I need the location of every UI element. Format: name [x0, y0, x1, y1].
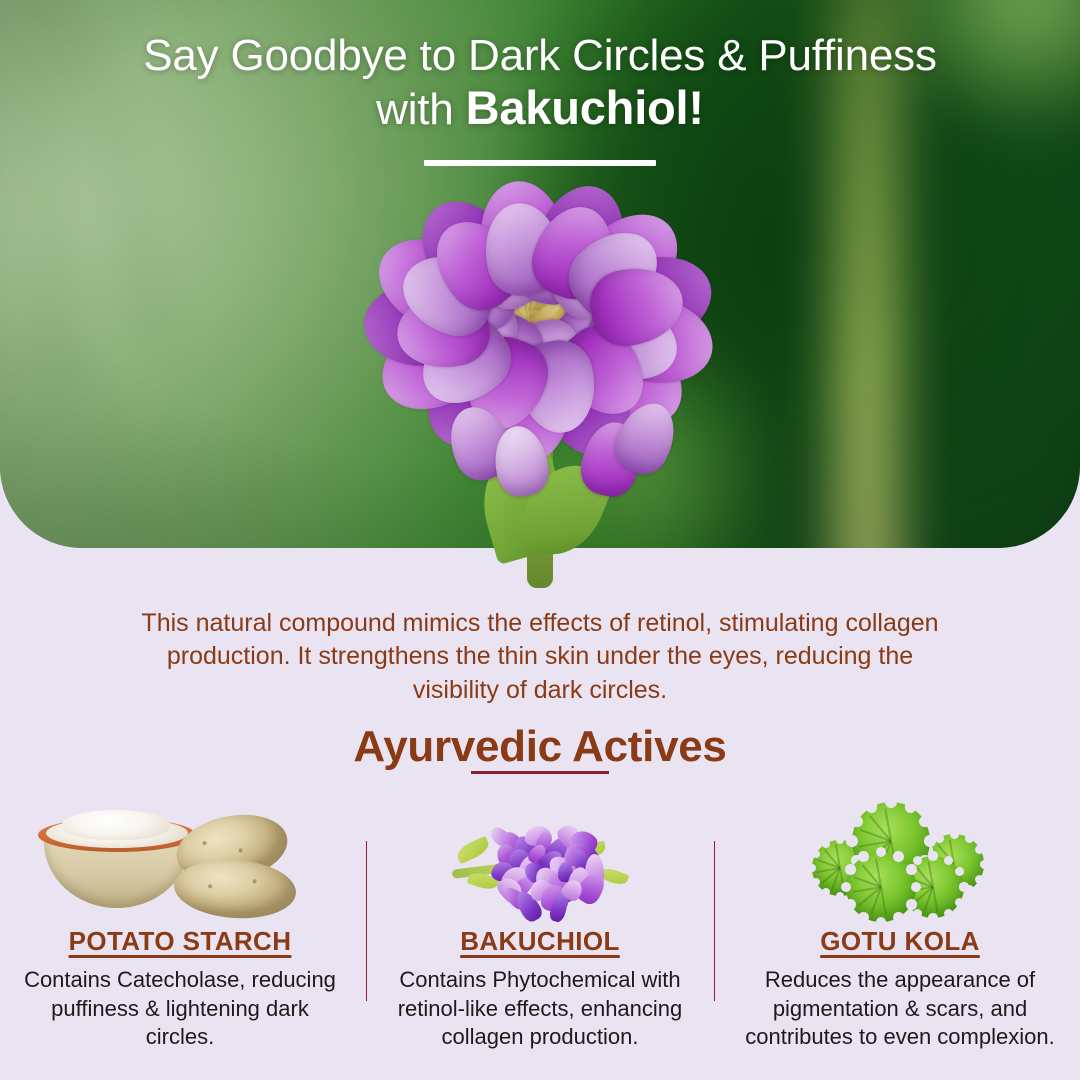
- leaf-notch: [950, 830, 959, 839]
- headline-line-2: with Bakuchiol!: [0, 83, 1080, 133]
- gotu-kola-leaf-cluster: [806, 800, 994, 918]
- leaf-notch: [965, 834, 974, 843]
- gotu-kola-image: [736, 796, 1064, 920]
- potato: [172, 856, 298, 922]
- leaf-notch: [822, 888, 830, 896]
- leaf-notch: [858, 851, 869, 862]
- potato-starch-image: [16, 796, 344, 920]
- headline-line-1: Say Goodbye to Dark Circles & Puffiness: [0, 32, 1080, 79]
- leaf-vein: [880, 887, 887, 916]
- headline-accent-word: Bakuchiol!: [466, 81, 704, 134]
- leaf-notch: [913, 856, 922, 865]
- leaf-notch: [846, 835, 858, 847]
- ingredient-description: Reduces the appearance of pigmentation &…: [736, 966, 1064, 1052]
- leaf-notch: [858, 912, 869, 923]
- infographic-page: Say Goodbye to Dark Circles & Puffiness …: [0, 0, 1080, 1080]
- leaf-notch: [851, 816, 863, 828]
- leaf-vein: [932, 887, 938, 913]
- leaf-notch: [906, 864, 917, 875]
- section-title: Ayurvedic Actives: [0, 722, 1080, 772]
- leaf-notch: [893, 851, 904, 862]
- leaf-notch: [975, 845, 984, 854]
- leaf-notch: [836, 836, 844, 844]
- leaf-notch: [924, 835, 936, 847]
- leaf-notch: [928, 851, 937, 860]
- ingredient-card-potato-starch: POTATO STARCH Contains Catecholase, redu…: [0, 796, 360, 1080]
- leaf-notch: [919, 816, 931, 828]
- intro-paragraph: This natural compound mimics the effects…: [130, 607, 950, 707]
- starch-mound: [62, 810, 170, 840]
- leaf-notch: [944, 856, 953, 865]
- leaf-notch: [841, 882, 852, 893]
- headline-prefix: with: [376, 85, 465, 134]
- leaf-notch: [959, 882, 968, 891]
- ingredient-columns: POTATO STARCH Contains Catecholase, redu…: [0, 796, 1080, 1080]
- leaf-notch: [822, 840, 830, 848]
- leaf-notch: [866, 801, 878, 813]
- ingredient-card-gotu-kola: GOTU KOLA Reduces the appearance of pigm…: [720, 796, 1080, 1080]
- leaf-notch: [905, 801, 917, 813]
- ingredient-name: GOTU KOLA: [820, 926, 980, 957]
- ingredient-name: POTATO STARCH: [69, 926, 292, 957]
- bakuchiol-image: [376, 796, 704, 920]
- leaf-notch: [893, 912, 904, 923]
- leaf-notch: [980, 860, 989, 869]
- hero-headline: Say Goodbye to Dark Circles & Puffiness …: [0, 32, 1080, 133]
- leaf-notch: [812, 850, 820, 858]
- leaf-notch: [812, 878, 820, 886]
- leaf-notch: [885, 796, 897, 808]
- flower-leaflet: [454, 836, 492, 864]
- ingredient-name: BAKUCHIOL: [460, 926, 620, 957]
- section-title-underline: [471, 771, 609, 774]
- leaf-notch: [913, 909, 922, 918]
- headline-underline: [424, 160, 656, 166]
- leaf-notch: [845, 864, 856, 875]
- leaf-notch: [876, 847, 887, 858]
- leaf-notch: [845, 899, 856, 910]
- leaf-notch: [906, 899, 917, 910]
- bakuchiol-hero-flower: [355, 170, 725, 590]
- leaf-notch: [928, 913, 937, 922]
- leaf-notch: [944, 909, 953, 918]
- bakuchiol-flower-cluster: [450, 804, 630, 916]
- gotu-kola-leaf: [846, 852, 916, 922]
- ingredient-description: Contains Phytochemical with retinol-like…: [376, 966, 704, 1052]
- leaf-notch: [836, 892, 844, 900]
- leaf-notch: [955, 898, 964, 907]
- ingredient-card-bakuchiol: BAKUCHIOL Contains Phytochemical with re…: [360, 796, 720, 1080]
- leaf-notch: [975, 875, 984, 884]
- leaf-notch: [935, 834, 944, 843]
- leaf-notch: [808, 864, 816, 872]
- ingredient-description: Contains Catecholase, reducing puffiness…: [16, 966, 344, 1052]
